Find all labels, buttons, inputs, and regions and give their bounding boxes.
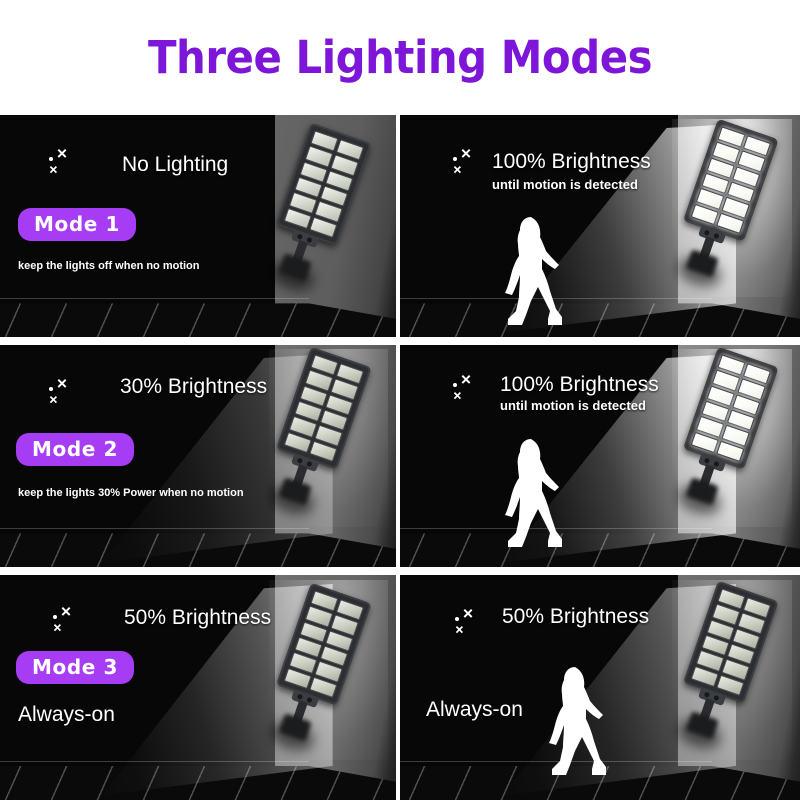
title-bar: Three Lighting Modes xyxy=(0,0,800,115)
panel-caption: keep the lights off when no motion xyxy=(18,260,200,272)
panel-motion-100-mid: 100% Brightness until motion is detected xyxy=(400,345,800,567)
mode-badge[interactable]: Mode 1 xyxy=(18,208,136,241)
panel-mode-3: 50% Brightness Mode 3 Always-on xyxy=(0,575,396,800)
panel-grid: No Lighting Mode 1 keep the lights off w… xyxy=(0,115,800,800)
scene-always-on: 50% Brightness Always-on xyxy=(400,575,800,800)
moon-stars-icon xyxy=(422,363,482,411)
walking-person-silhouette xyxy=(498,215,574,327)
floor-edge xyxy=(0,528,309,529)
moon-stars-icon xyxy=(424,597,484,645)
panel-headline: 50% Brightness xyxy=(124,606,271,630)
page-title: Three Lighting Modes xyxy=(148,31,652,84)
mode-badge[interactable]: Mode 2 xyxy=(16,433,134,466)
panel-subline: until motion is detected xyxy=(492,177,638,192)
scene-mode-2: 30% Brightness Mode 2 keep the lights 30… xyxy=(0,345,396,567)
scene-motion-100-mid: 100% Brightness until motion is detected xyxy=(400,345,800,567)
moon-stars-icon xyxy=(18,367,78,415)
infographic-page: Three Lighting Modes xyxy=(0,0,800,800)
panel-motion-100-top: 100% Brightness until motion is detected xyxy=(400,115,800,337)
floor-edge xyxy=(0,298,309,299)
moon-stars-icon xyxy=(22,595,82,643)
scene-motion-100-top: 100% Brightness until motion is detected xyxy=(400,115,800,337)
moon-stars-icon xyxy=(18,137,78,185)
scene-mode-3: 50% Brightness Mode 3 Always-on xyxy=(0,575,396,800)
panel-headline: 100% Brightness xyxy=(500,373,659,397)
panel-subline: until motion is detected xyxy=(500,398,646,413)
scene-mode-1: No Lighting Mode 1 keep the lights off w… xyxy=(0,115,396,337)
mode-badge[interactable]: Mode 3 xyxy=(16,651,134,684)
moon-stars-icon xyxy=(422,137,482,185)
floor-edge xyxy=(0,761,309,762)
panel-caption: keep the lights 30% Power when no motion xyxy=(18,487,244,499)
panel-mode-1: No Lighting Mode 1 keep the lights off w… xyxy=(0,115,396,337)
panel-headline: No Lighting xyxy=(122,153,228,177)
panel-headline: 30% Brightness xyxy=(120,375,267,399)
panel-always-on: 50% Brightness Always-on xyxy=(400,575,800,800)
walking-person-silhouette xyxy=(498,437,574,549)
walking-person-silhouette xyxy=(542,665,618,777)
panel-headline: 100% Brightness xyxy=(492,150,651,174)
panel-headline: 50% Brightness xyxy=(502,605,649,629)
panel-caption: Always-on xyxy=(18,703,115,727)
panel-caption: Always-on xyxy=(426,698,523,722)
panel-mode-2: 30% Brightness Mode 2 keep the lights 30… xyxy=(0,345,396,567)
